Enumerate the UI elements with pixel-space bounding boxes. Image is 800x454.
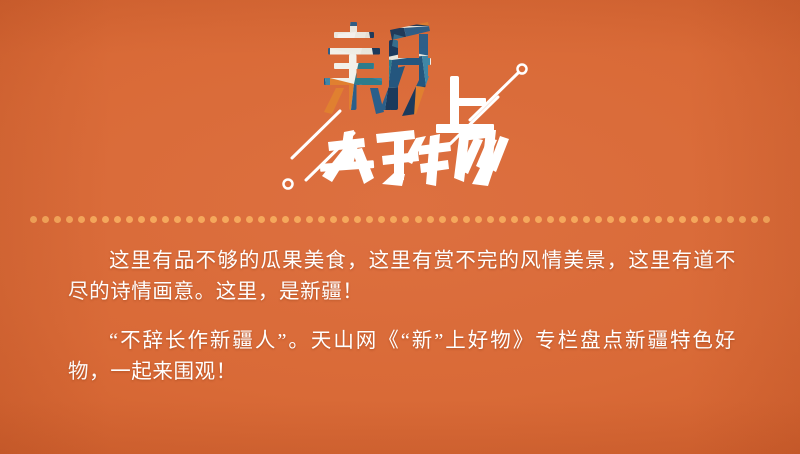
divider-dot xyxy=(679,216,686,223)
divider-dot xyxy=(475,216,482,223)
divider-dot xyxy=(90,216,97,223)
xin-shang-hao-wu-logo-svg xyxy=(278,18,538,193)
divider-dot xyxy=(222,216,229,223)
poster-root: 这里有品不够的瓜果美食，这里有赏不完的风情美景，这里有道不尽的诗情画意。这里，是… xyxy=(0,0,800,454)
divider-dot xyxy=(294,216,301,223)
divider-dot xyxy=(487,216,494,223)
divider-dot xyxy=(559,216,566,223)
divider-dot xyxy=(415,216,422,223)
divider-dot xyxy=(126,216,133,223)
divider-dot xyxy=(439,216,446,223)
body-paragraph-1: 这里有品不够的瓜果美食，这里有赏不完的风情美景，这里有道不尽的诗情画意。这里，是… xyxy=(68,246,736,308)
divider-dot xyxy=(751,216,758,223)
divider-dot xyxy=(739,216,746,223)
divider-dot xyxy=(234,216,241,223)
divider-dot xyxy=(402,216,409,223)
divider-dot xyxy=(667,216,674,223)
divider-dot xyxy=(138,216,145,223)
divider-dot xyxy=(547,216,554,223)
divider-dot xyxy=(643,216,650,223)
divider-dot xyxy=(258,216,265,223)
poster-header xyxy=(0,0,800,205)
dotted-divider xyxy=(30,214,770,224)
divider-dot xyxy=(523,216,530,223)
divider-dot xyxy=(330,216,337,223)
divider-dot xyxy=(451,216,458,223)
divider-dot xyxy=(174,216,181,223)
divider-dot xyxy=(535,216,542,223)
divider-dot xyxy=(30,216,37,223)
divider-dot xyxy=(511,216,518,223)
divider-dot xyxy=(499,216,506,223)
divider-dot xyxy=(595,216,602,223)
divider-dot xyxy=(607,216,614,223)
divider-dot xyxy=(78,216,85,223)
divider-dot xyxy=(42,216,49,223)
divider-dot xyxy=(727,216,734,223)
divider-dot xyxy=(703,216,710,223)
divider-dot xyxy=(162,216,169,223)
divider-dot xyxy=(354,216,361,223)
divider-dot xyxy=(571,216,578,223)
divider-dot xyxy=(306,216,313,223)
divider-dot xyxy=(619,216,626,223)
divider-dot xyxy=(691,216,698,223)
divider-dot xyxy=(378,216,385,223)
logo-char-shang xyxy=(436,76,494,133)
divider-dot xyxy=(210,216,217,223)
divider-dot xyxy=(631,216,638,223)
logo-char-xin xyxy=(324,22,431,116)
divider-dot xyxy=(342,216,349,223)
divider-dot xyxy=(282,216,289,223)
divider-dot xyxy=(102,216,109,223)
logo-char-hao xyxy=(320,130,419,186)
divider-dot xyxy=(198,216,205,223)
divider-dot xyxy=(114,216,121,223)
divider-dot xyxy=(246,216,253,223)
divider-dot xyxy=(270,216,277,223)
divider-dot xyxy=(763,216,770,223)
divider-dot xyxy=(390,216,397,223)
body-copy: 这里有品不够的瓜果美食，这里有赏不完的风情美景，这里有道不尽的诗情画意。这里，是… xyxy=(68,246,736,388)
divider-dot xyxy=(318,216,325,223)
divider-dot xyxy=(463,216,470,223)
divider-dot xyxy=(54,216,61,223)
divider-dot xyxy=(66,216,73,223)
body-paragraph-2: “不辞长作新疆人”。天山网《“新”上好物》专栏盘点新疆特色好物，一起来围观！ xyxy=(68,326,736,388)
divider-dot xyxy=(150,216,157,223)
divider-dot xyxy=(366,216,373,223)
divider-dot xyxy=(655,216,662,223)
logo-block xyxy=(278,18,538,193)
divider-dot xyxy=(427,216,434,223)
divider-dot xyxy=(583,216,590,223)
divider-dot xyxy=(715,216,722,223)
divider-dot xyxy=(186,216,193,223)
